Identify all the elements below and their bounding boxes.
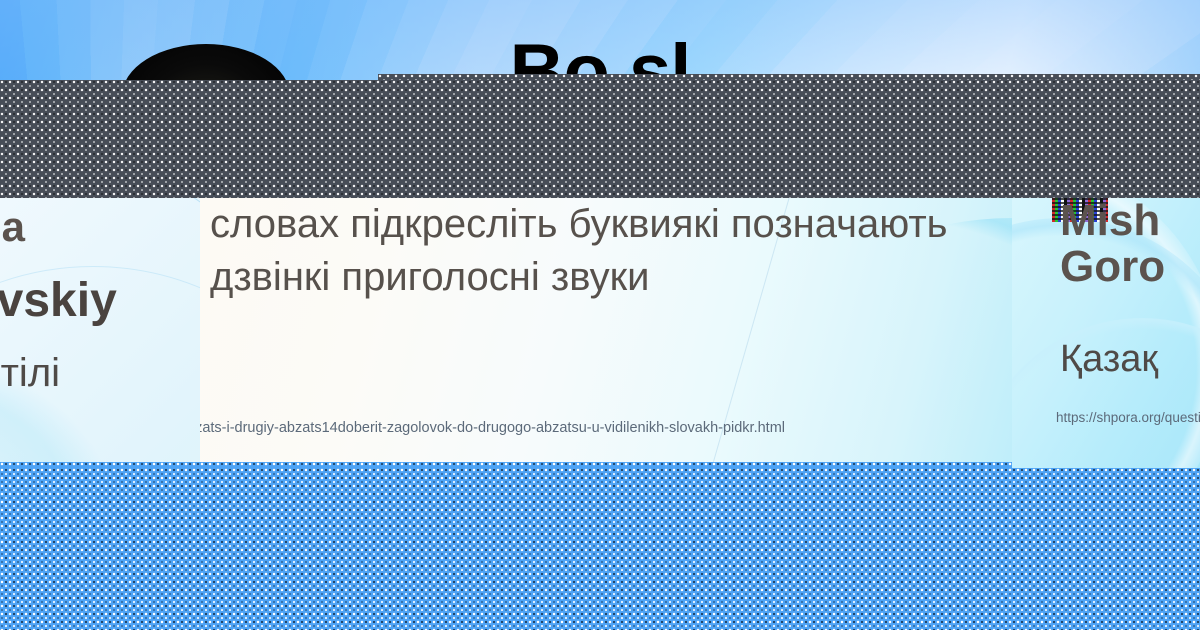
question-text: словах підкресліть буквиякі позначають д… (210, 198, 1010, 304)
card-right[interactable]: Mish Goro Қазақ https://shpora.org/quest… (1012, 198, 1200, 468)
card-center[interactable]: словах підкресліть буквиякі позначають д… (200, 198, 1012, 468)
screenshot-canvas: Bo sl na hovskiy қ тілі словах підкреслі… (0, 0, 1200, 630)
card-left[interactable]: na hovskiy қ тілі (0, 198, 232, 468)
occluder-band-dark (0, 80, 1200, 198)
right-card-name: Mish Goro (1060, 198, 1165, 290)
right-card-name-line2: Goro (1060, 244, 1165, 290)
right-card-subject: Қазақ (1060, 338, 1158, 381)
right-card-url[interactable]: https://shpora.org/questi (1056, 410, 1200, 425)
right-card-name-line1: Mish (1060, 198, 1165, 244)
left-card-name-line2: hovskiy (0, 276, 117, 326)
left-card-name-line1: na (0, 204, 25, 250)
left-card-subject: қ тілі (0, 350, 60, 396)
source-url[interactable]: on/3931878-spishit-pershiy-abzats-i-drug… (200, 420, 1010, 436)
bottom-band-blue (0, 468, 1200, 630)
card-strip: na hovskiy қ тілі словах підкресліть бук… (0, 198, 1200, 468)
